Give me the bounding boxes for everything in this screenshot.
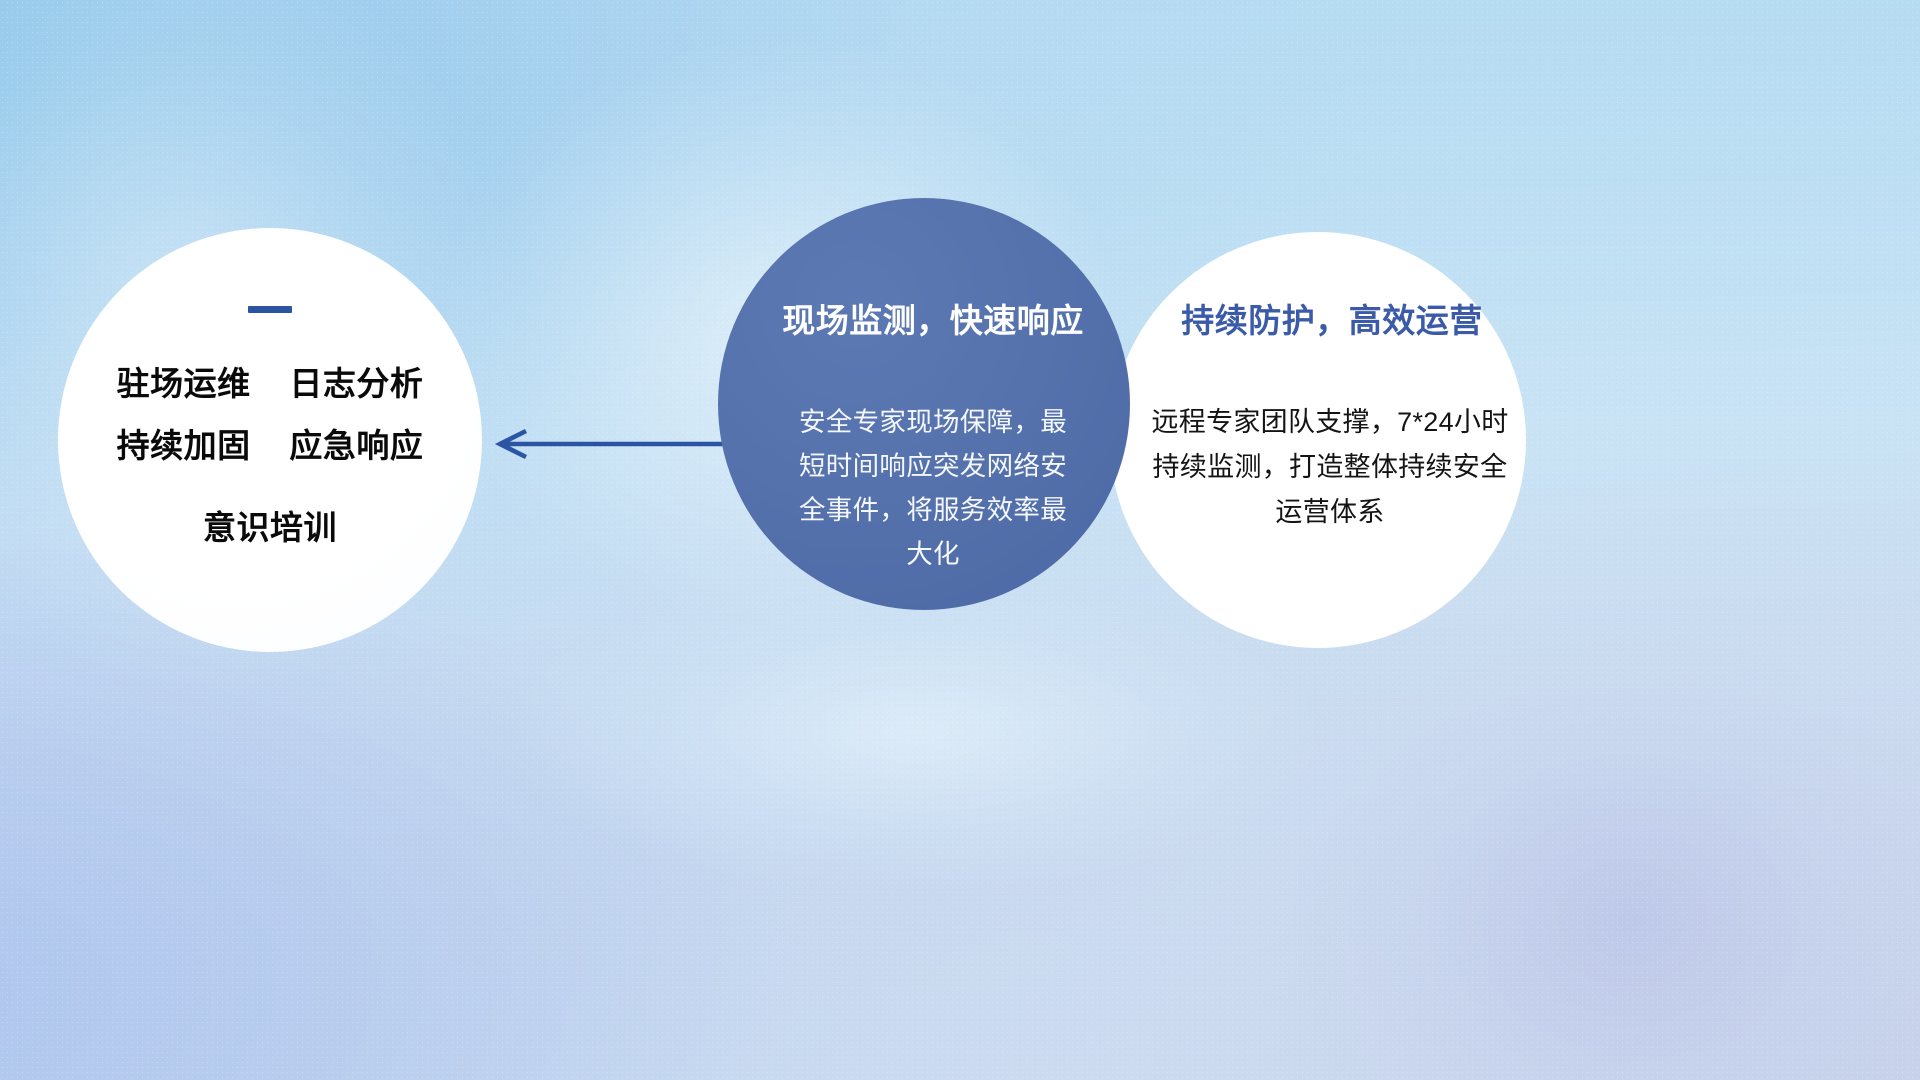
- keyword-row: 驻场运维 日志分析: [58, 353, 482, 415]
- keyword-row: 意识培训: [58, 497, 482, 559]
- circle-right-content: 持续防护，高效运营 远程专家团队支撑，7*24小时持续监测，打造整体持续安全运营…: [1110, 232, 1526, 648]
- circle-mid-body: 安全专家现场保障，最短时间响应突发网络安全事件，将服务效率最大化: [790, 400, 1076, 576]
- three-circle-diagram: 持续防护，高效运营 远程专家团队支撑，7*24小时持续监测，打造整体持续安全运营…: [0, 0, 1920, 1080]
- circle-mid-content: 现场监测，快速响应 安全专家现场保障，最短时间响应突发网络安全事件，将服务效率最…: [718, 198, 1130, 610]
- circle-right-title: 持续防护，高效运营: [1181, 294, 1483, 342]
- circle-left-content: 驻场运维 日志分析 持续加固 应急响应 意识培训: [58, 228, 482, 652]
- circle-mid-title: 现场监测，快速响应: [782, 294, 1084, 342]
- keyword-row: 持续加固 应急响应: [58, 415, 482, 477]
- circle-right-body: 远程专家团队支撑，7*24小时持续监测，打造整体持续安全运营体系: [1146, 400, 1514, 535]
- divider-dash: [248, 306, 292, 313]
- circle-left-keyword-list: 驻场运维 日志分析 持续加固 应急响应 意识培训: [58, 353, 482, 559]
